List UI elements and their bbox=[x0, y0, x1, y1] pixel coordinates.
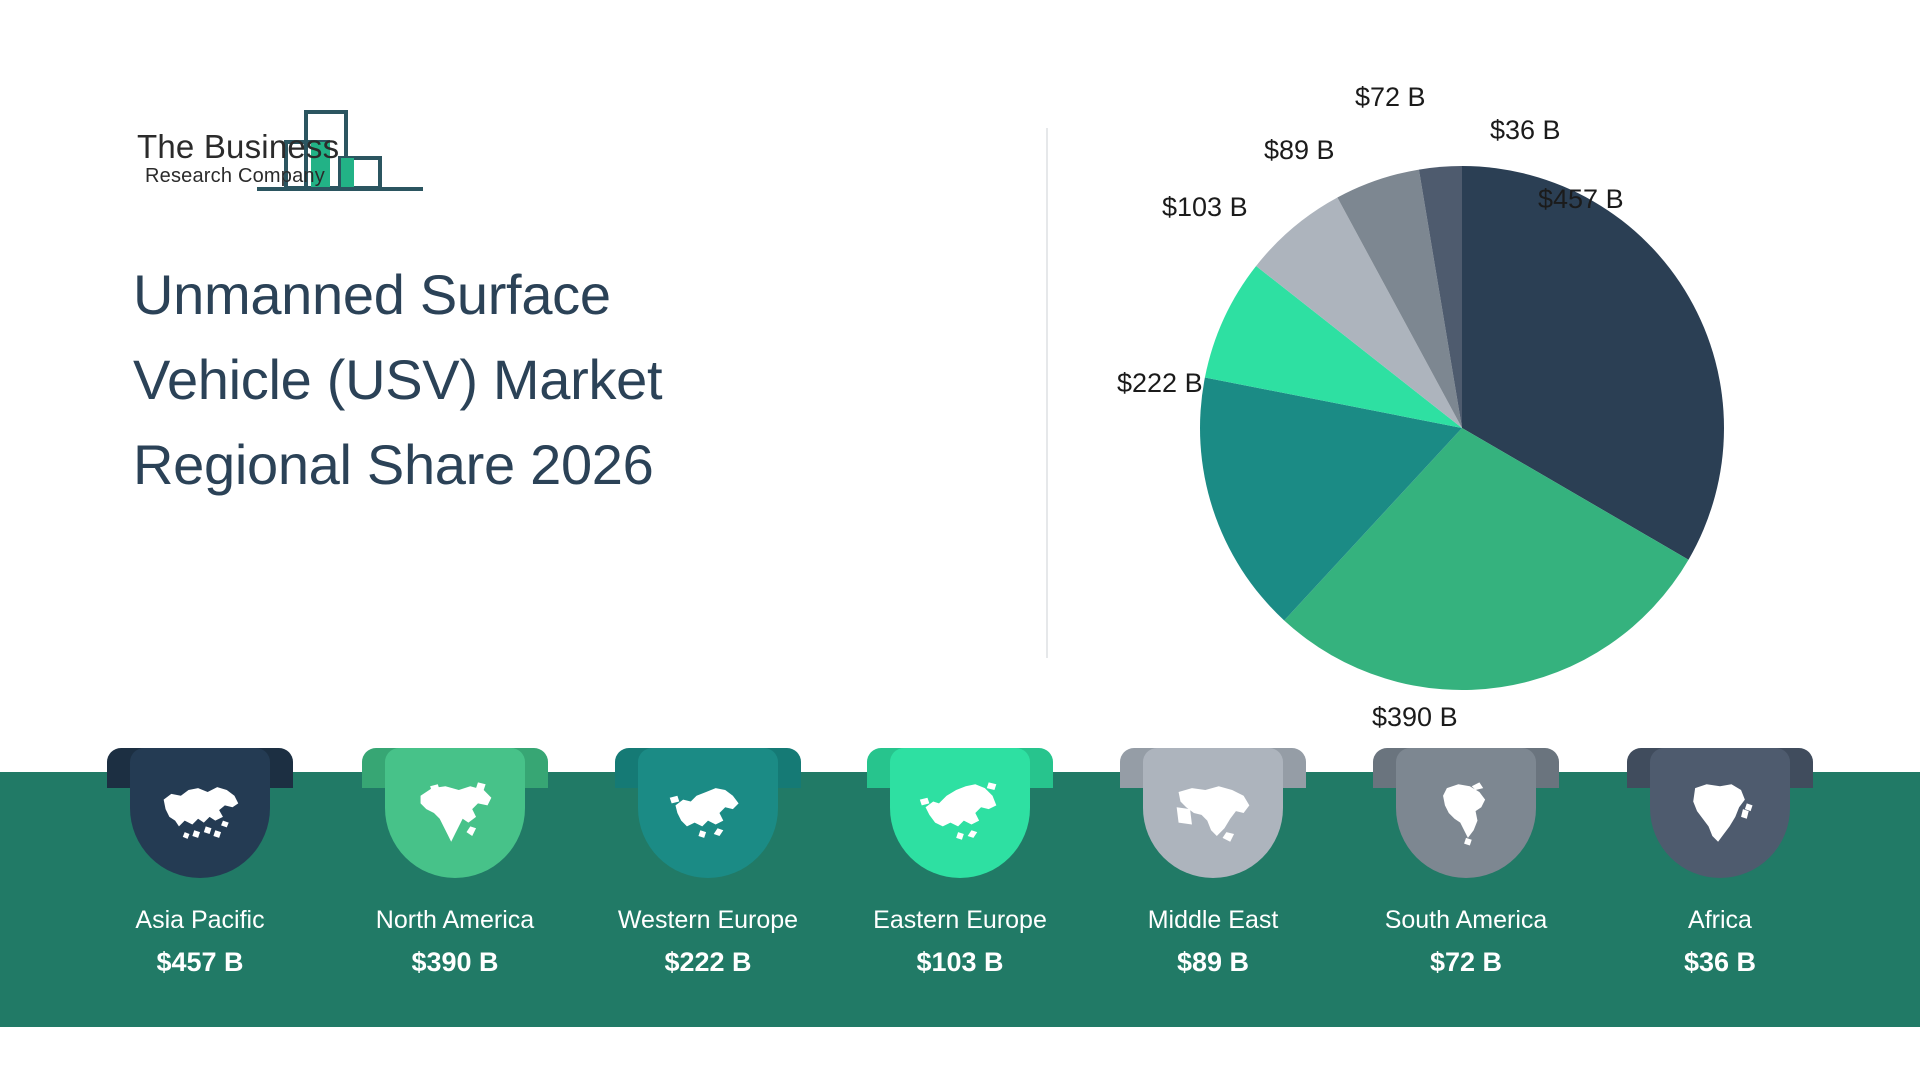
page-title-line-3: Regional Share 2026 bbox=[133, 422, 893, 507]
region-card-name: Middle East bbox=[1113, 906, 1313, 935]
region-badge-north-america bbox=[362, 748, 548, 878]
region-badge-shield bbox=[1396, 748, 1536, 878]
page-title: Unmanned Surface Vehicle (USV) Market Re… bbox=[133, 252, 893, 507]
region-badge-africa bbox=[1627, 748, 1813, 878]
region-card-name: Eastern Europe bbox=[860, 906, 1060, 935]
western-europe-map-icon bbox=[664, 778, 752, 848]
region-badge-western-europe bbox=[615, 748, 801, 878]
region-card-value: $222 B bbox=[608, 947, 808, 978]
pie-label-western-europe: $222 B bbox=[1117, 368, 1203, 399]
region-card-value: $89 B bbox=[1113, 947, 1313, 978]
region-card-name: South America bbox=[1366, 906, 1566, 935]
region-card-value: $72 B bbox=[1366, 947, 1566, 978]
region-badge-shield bbox=[890, 748, 1030, 878]
region-badge-asia-pacific bbox=[107, 748, 293, 878]
region-card-value: $103 B bbox=[860, 947, 1060, 978]
region-card-value: $390 B bbox=[355, 947, 555, 978]
page-title-line-2: Vehicle (USV) Market bbox=[133, 337, 893, 422]
south-america-map-icon bbox=[1422, 778, 1510, 848]
pie-label-asia-pacific: $457 B bbox=[1538, 184, 1624, 215]
north-america-map-icon bbox=[411, 778, 499, 848]
vertical-divider bbox=[1046, 128, 1048, 658]
region-card-western-europe[interactable]: Western Europe$222 B bbox=[608, 748, 808, 978]
pie-label-eastern-europe: $103 B bbox=[1162, 192, 1248, 223]
region-card-africa[interactable]: Africa$36 B bbox=[1620, 748, 1820, 978]
brand-logo: The Business Research Company bbox=[133, 100, 423, 192]
region-badge-middle-east bbox=[1120, 748, 1306, 878]
region-card-name: Africa bbox=[1620, 906, 1820, 935]
eastern-europe-map-icon bbox=[916, 778, 1004, 848]
africa-map-icon bbox=[1676, 778, 1764, 848]
region-badge-shield bbox=[1143, 748, 1283, 878]
region-card-middle-east[interactable]: Middle East$89 B bbox=[1113, 748, 1313, 978]
infographic-canvas: The Business Research Company Unmanned S… bbox=[0, 0, 1920, 1080]
pie-label-north-america: $390 B bbox=[1372, 702, 1458, 733]
region-card-name: Asia Pacific bbox=[100, 906, 300, 935]
region-badge-shield bbox=[1650, 748, 1790, 878]
region-badge-shield bbox=[130, 748, 270, 878]
regional-share-pie-chart: $457 B$390 B$222 B$103 B$89 B$72 B$36 B bbox=[1150, 100, 1810, 720]
middle-east-map-icon bbox=[1169, 778, 1257, 848]
region-badge-eastern-europe bbox=[867, 748, 1053, 878]
region-badge-south-america bbox=[1373, 748, 1559, 878]
region-card-north-america[interactable]: North America$390 B bbox=[355, 748, 555, 978]
logo-text-line2: Research Company bbox=[145, 165, 325, 187]
pie-slice-group bbox=[1200, 166, 1724, 690]
region-card-eastern-europe[interactable]: Eastern Europe$103 B bbox=[860, 748, 1060, 978]
region-badge-shield bbox=[385, 748, 525, 878]
pie-label-south-america: $72 B bbox=[1355, 82, 1426, 113]
region-badge-shield bbox=[638, 748, 778, 878]
region-card-south-america[interactable]: South America$72 B bbox=[1366, 748, 1566, 978]
page-title-line-1: Unmanned Surface bbox=[133, 252, 893, 337]
region-card-value: $36 B bbox=[1620, 947, 1820, 978]
region-card-asia-pacific[interactable]: Asia Pacific$457 B bbox=[100, 748, 300, 978]
asia-pacific-map-icon bbox=[156, 778, 244, 848]
region-card-value: $457 B bbox=[100, 947, 300, 978]
logo-text-line1: The Business bbox=[137, 128, 339, 165]
pie-chart-svg bbox=[1197, 163, 1727, 693]
pie-label-middle-east: $89 B bbox=[1264, 135, 1335, 166]
region-card-name: North America bbox=[355, 906, 555, 935]
pie-label-africa: $36 B bbox=[1490, 115, 1561, 146]
region-card-name: Western Europe bbox=[608, 906, 808, 935]
